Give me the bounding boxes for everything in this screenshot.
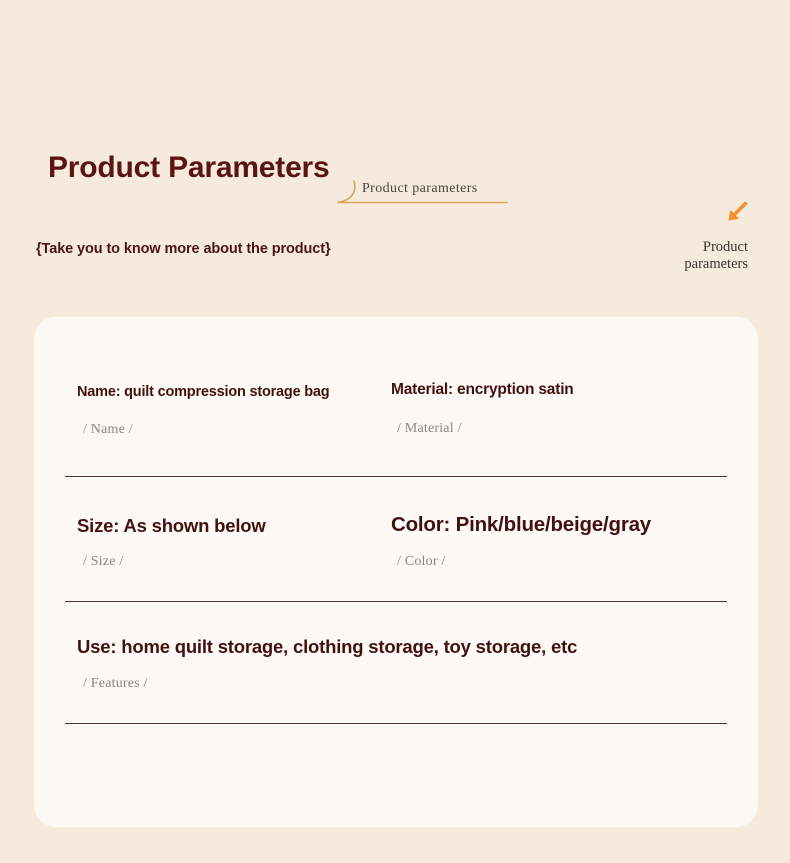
row-divider <box>65 723 727 724</box>
table-row: Size: As shown below / Size / Color: Pin… <box>65 477 727 570</box>
parameter-value-size: Size: As shown below <box>77 515 266 537</box>
parameter-value-name: Name: quilt compression storage bag <box>77 384 329 400</box>
parameter-label-material: / Material / <box>397 421 727 437</box>
parameter-cell-color: Color: Pink/blue/beige/gray / Color / <box>373 515 727 570</box>
side-caption-line-1: Product <box>588 239 748 256</box>
parameter-label-name: / Name / <box>83 422 373 438</box>
side-caption: Product parameters <box>588 239 748 273</box>
parameters-table: Name: quilt compression storage bag / Na… <box>65 317 727 724</box>
arrow-down-left-icon <box>724 199 750 225</box>
page-subtitle: {Take you to know more about the product… <box>36 241 331 257</box>
swoosh-heading-label: Product parameters <box>362 181 478 197</box>
parameter-label-color: / Color / <box>397 554 727 570</box>
parameters-card: Name: quilt compression storage bag / Na… <box>34 317 758 827</box>
table-row: Use: home quilt storage, clothing storag… <box>65 602 727 692</box>
parameter-cell-features: Use: home quilt storage, clothing storag… <box>65 636 727 692</box>
parameter-label-size: / Size / <box>83 554 373 570</box>
table-row: Name: quilt compression storage bag / Na… <box>65 317 727 438</box>
side-caption-line-2: parameters <box>588 256 748 273</box>
swoosh-heading-group: Product parameters <box>336 180 508 206</box>
parameter-cell-name: Name: quilt compression storage bag / Na… <box>65 383 373 438</box>
parameter-cell-material: Material: encryption satin / Material / <box>373 383 727 438</box>
parameter-value-material: Material: encryption satin <box>391 381 574 399</box>
page-title: Product Parameters <box>48 150 330 186</box>
page-header: Product Parameters Product parameters {T… <box>0 0 790 317</box>
parameter-value-features: Use: home quilt storage, clothing storag… <box>77 636 577 658</box>
parameter-value-color: Color: Pink/blue/beige/gray <box>391 513 651 537</box>
parameter-label-features: / Features / <box>83 676 727 692</box>
parameter-cell-size: Size: As shown below / Size / <box>65 515 373 570</box>
